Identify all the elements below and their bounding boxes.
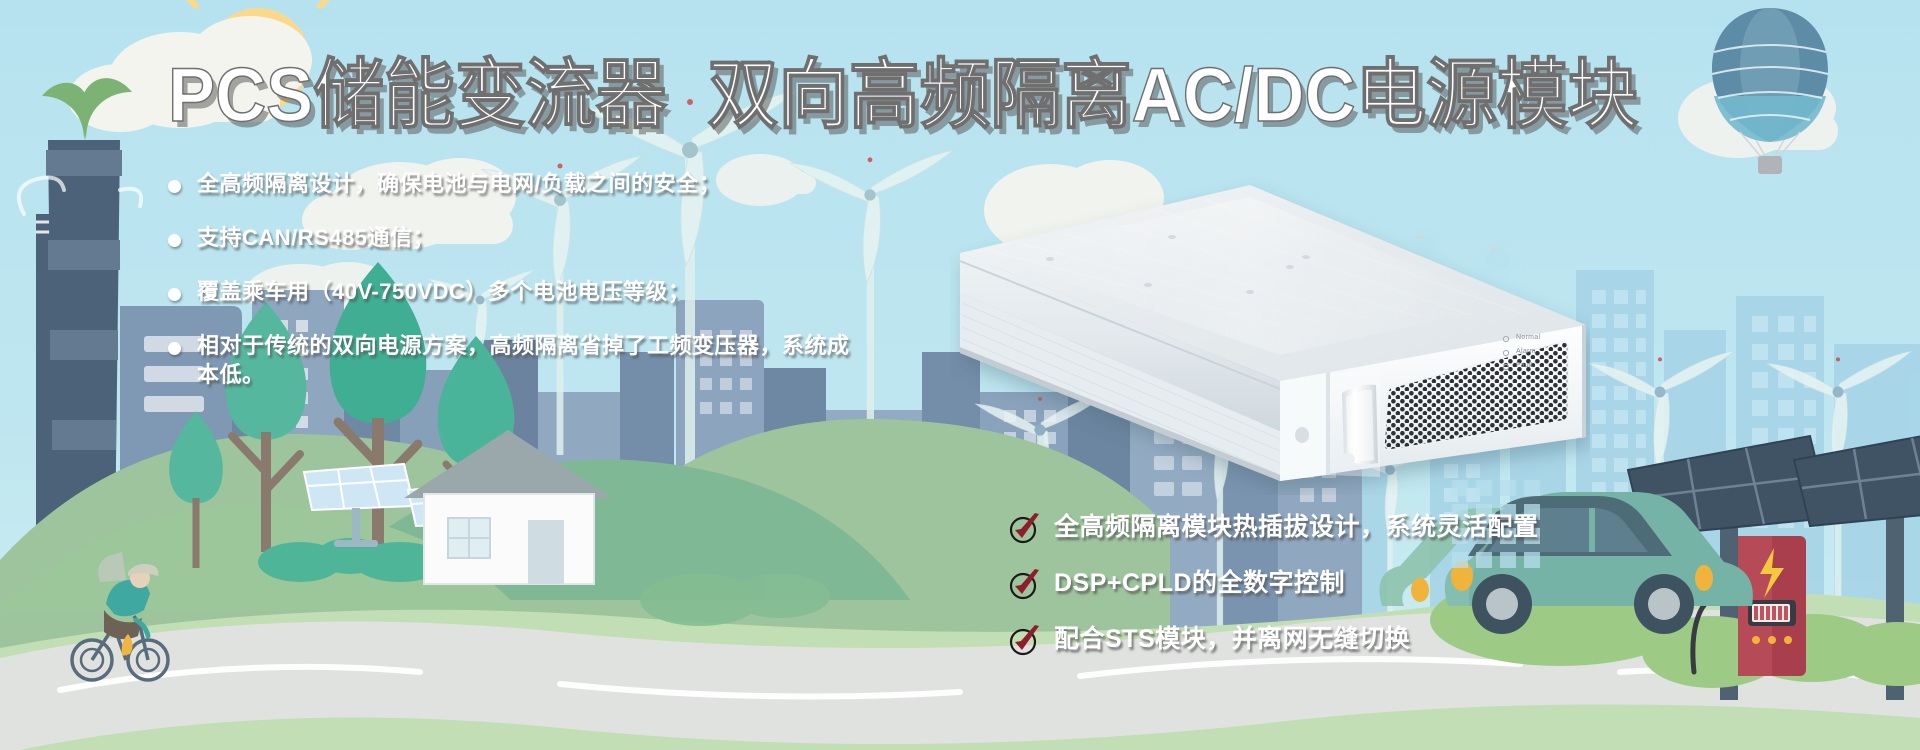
list-item: 覆盖乘车用（40V-750VDC）多个电池电压等级； xyxy=(168,278,908,306)
check-circle-icon xyxy=(1008,566,1042,600)
feature-text: 全高频隔离设计，确保电池与电网/负载之间的安全； xyxy=(197,170,721,198)
led-label-normal: Normal xyxy=(1516,334,1540,341)
list-item: 全高频隔离设计，确保电池与电网/负载之间的安全； xyxy=(168,170,908,198)
feature-text: 覆盖乘车用（40V-750VDC）多个电池电压等级； xyxy=(197,278,690,306)
highlight-text: DSP+CPLD的全数字控制 xyxy=(1054,568,1345,598)
highlight-text: 配合STS模块，并离网无缝切换 xyxy=(1054,624,1410,654)
list-item: 相对于传统的双向电源方案，高频隔离省掉了工频变压器，系统成本低。 xyxy=(168,332,908,388)
bullet-dot-icon xyxy=(168,342,181,355)
solar-panel-icon xyxy=(1628,426,1920,700)
feature-text: 相对于传统的双向电源方案，高频隔离省掉了工频变压器，系统成本低。 xyxy=(197,332,857,388)
feature-list: 全高频隔离设计，确保电池与电网/负载之间的安全； 支持CAN/RS485通信； … xyxy=(168,170,908,415)
highlight-text: 全高频隔离模块热插拔设计，系统灵活配置 xyxy=(1054,512,1539,542)
list-item: DSP+CPLD的全数字控制 xyxy=(1008,566,1628,600)
page-title: PCS储能变流器双向高频隔离AC/DC电源模块 xyxy=(168,58,1638,134)
bullet-dot-icon xyxy=(168,180,181,193)
cyclist-icon xyxy=(72,552,168,680)
led-label-fault: Fault xyxy=(1516,362,1533,369)
solar-panel-icon xyxy=(304,464,518,561)
feature-text: 支持CAN/RS485通信； xyxy=(197,224,435,252)
check-circle-icon xyxy=(1008,510,1042,544)
bullet-dot-icon xyxy=(168,234,181,247)
ev-charger-icon xyxy=(1693,536,1806,676)
title-sub: 双向高频隔离AC/DC电源模块 xyxy=(708,53,1639,138)
check-circle-icon xyxy=(1008,622,1042,656)
hot-air-balloon-icon xyxy=(1712,8,1828,174)
house-icon xyxy=(404,430,612,584)
factory-chimney-icon xyxy=(19,78,141,624)
title-main: PCS储能变流器 xyxy=(168,53,667,138)
bullet-dot-icon xyxy=(168,288,181,301)
product-device-image: Normal Alarm Fault xyxy=(950,175,1590,495)
led-label-alarm: Alarm xyxy=(1516,348,1536,355)
list-item: 支持CAN/RS485通信； xyxy=(168,224,908,252)
list-item: 配合STS模块，并离网无缝切换 xyxy=(1008,622,1628,656)
banner-root: Normal Alarm Fault PCS储能变流器双向高频隔离AC/DC电源… xyxy=(0,0,1920,750)
highlight-list: 全高频隔离模块热插拔设计，系统灵活配置 DSP+CPLD的全数字控制 配合STS… xyxy=(1008,510,1628,678)
list-item: 全高频隔离模块热插拔设计，系统灵活配置 xyxy=(1008,510,1628,544)
